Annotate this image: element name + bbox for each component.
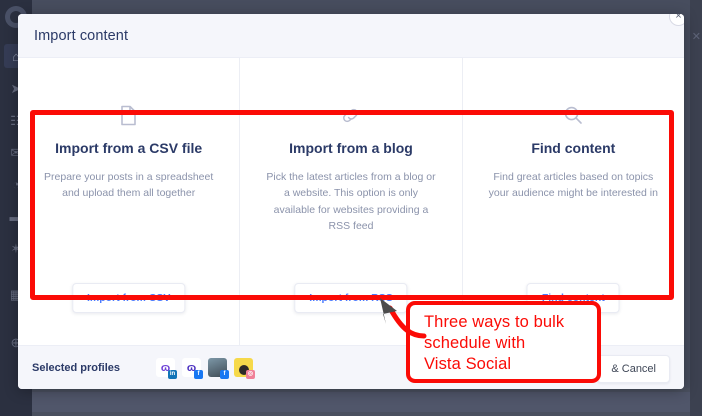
import-card-blog-title: Import from a blog: [264, 140, 437, 156]
profile-avatar-facebook-person[interactable]: f: [208, 358, 227, 377]
import-card-csv-description: Prepare your posts in a spreadsheet and …: [42, 169, 215, 202]
annotation-callout-line-1: Three ways to bulk: [424, 312, 597, 333]
selected-profiles-label: Selected profiles: [32, 362, 120, 374]
import-from-rss-button[interactable]: Import from RSS: [294, 283, 407, 313]
import-card-blog-description: Pick the latest articles from a blog or …: [264, 169, 437, 234]
linkedin-badge-icon: in: [168, 370, 177, 379]
instagram-badge-icon: ◎: [246, 370, 255, 379]
annotation-callout-line-2: schedule with: [424, 333, 597, 354]
cancel-button[interactable]: & Cancel: [597, 355, 670, 383]
profile-avatar-instagram[interactable]: ◎: [234, 358, 253, 377]
magnifier-search-icon: [487, 102, 660, 128]
facebook-badge-icon: f: [220, 370, 229, 379]
annotation-callout: Three ways to bulk schedule with Vista S…: [406, 301, 601, 383]
profile-avatar-linkedin[interactable]: ɷ in: [156, 358, 175, 377]
file-document-icon: [42, 102, 215, 128]
background-close-icon: ✕: [692, 30, 701, 43]
import-from-csv-button[interactable]: Import from CSV: [72, 283, 185, 313]
modal-header: Import content: [18, 14, 684, 58]
facebook-badge-icon: f: [194, 370, 203, 379]
import-card-find-content-description: Find great articles based on topics your…: [487, 169, 660, 202]
background-bottom-strip: [32, 388, 702, 416]
right-scroll-rail[interactable]: ✕: [690, 0, 702, 416]
import-card-csv[interactable]: Import from a CSV file Prepare your post…: [18, 58, 239, 345]
background-bottom-strip-inner: [32, 392, 692, 412]
selected-profiles-avatars: ɷ in ɷ f f ◎: [156, 358, 253, 377]
import-card-find-content-title: Find content: [487, 140, 660, 156]
profile-avatar-facebook-page[interactable]: ɷ f: [182, 358, 201, 377]
import-card-csv-title: Import from a CSV file: [42, 140, 215, 156]
annotation-callout-line-3: Vista Social: [424, 354, 597, 375]
link-chain-icon: [264, 102, 437, 128]
page-title: Import content: [34, 28, 128, 44]
